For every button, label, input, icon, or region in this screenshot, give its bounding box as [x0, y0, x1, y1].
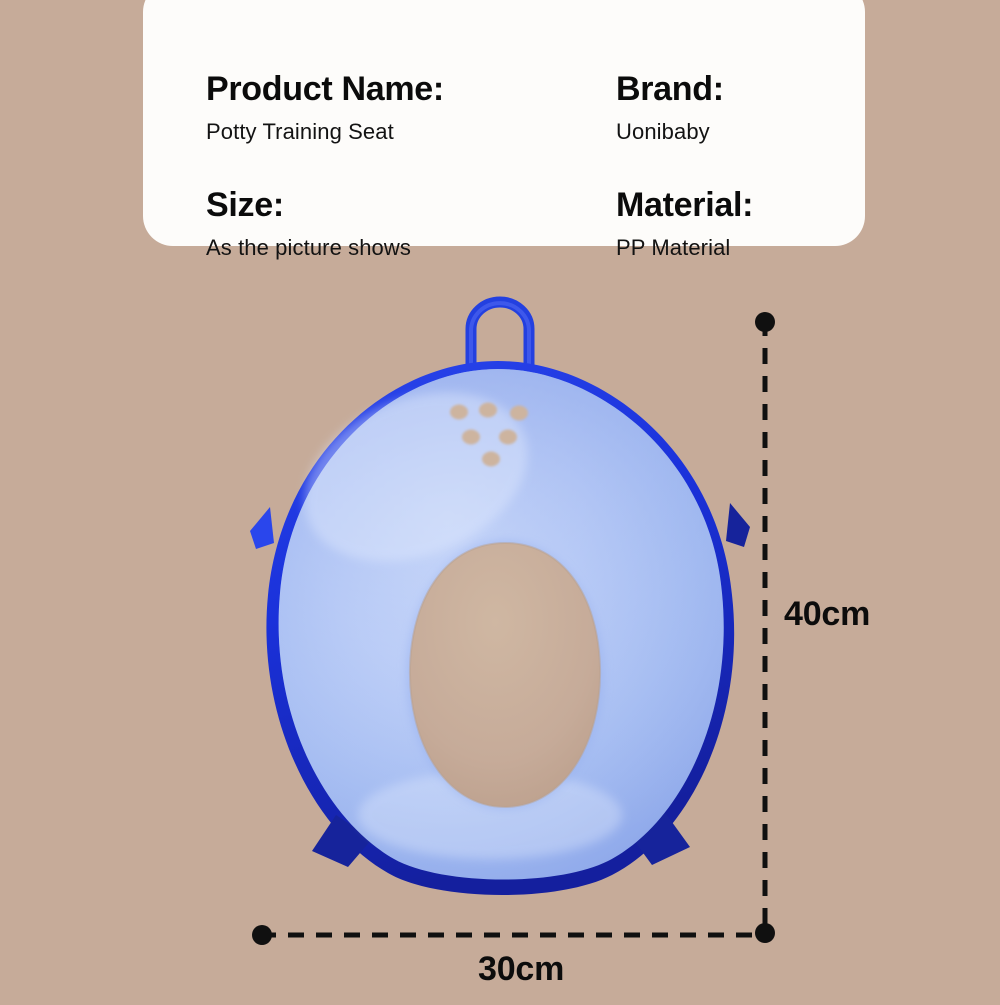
vent-hole — [462, 430, 480, 445]
vent-hole — [499, 430, 517, 445]
vent-hole — [479, 403, 497, 418]
vent-hole — [510, 406, 528, 421]
info-field-grid: Product Name: Potty Training Seat Brand:… — [143, 28, 865, 246]
field-value-product-name: Potty Training Seat — [206, 121, 444, 143]
vent-hole — [482, 452, 500, 467]
field-value-material: PP Material — [616, 237, 753, 259]
width-dimension-line — [252, 925, 765, 945]
field-label-brand: Brand: — [616, 72, 724, 106]
field-product-name: Product Name: Potty Training Seat — [206, 72, 444, 143]
field-size: Size: As the picture shows — [206, 188, 411, 259]
field-value-brand: Uonibaby — [616, 121, 724, 143]
field-brand: Brand: Uonibaby — [616, 72, 724, 143]
seat-opening — [407, 541, 603, 809]
vent-hole — [450, 405, 468, 420]
field-label-size: Size: — [206, 188, 411, 222]
field-label-product-name: Product Name: — [206, 72, 444, 106]
product-image-potty-training-seat — [240, 295, 760, 915]
dimension-label-width: 30cm — [478, 950, 564, 989]
field-label-material: Material: — [616, 188, 753, 222]
dimension-label-height: 40cm — [784, 595, 870, 634]
field-material: Material: PP Material — [616, 188, 753, 259]
field-value-size: As the picture shows — [206, 237, 411, 259]
product-info-card: Product Name: Potty Training Seat Brand:… — [143, 0, 865, 246]
